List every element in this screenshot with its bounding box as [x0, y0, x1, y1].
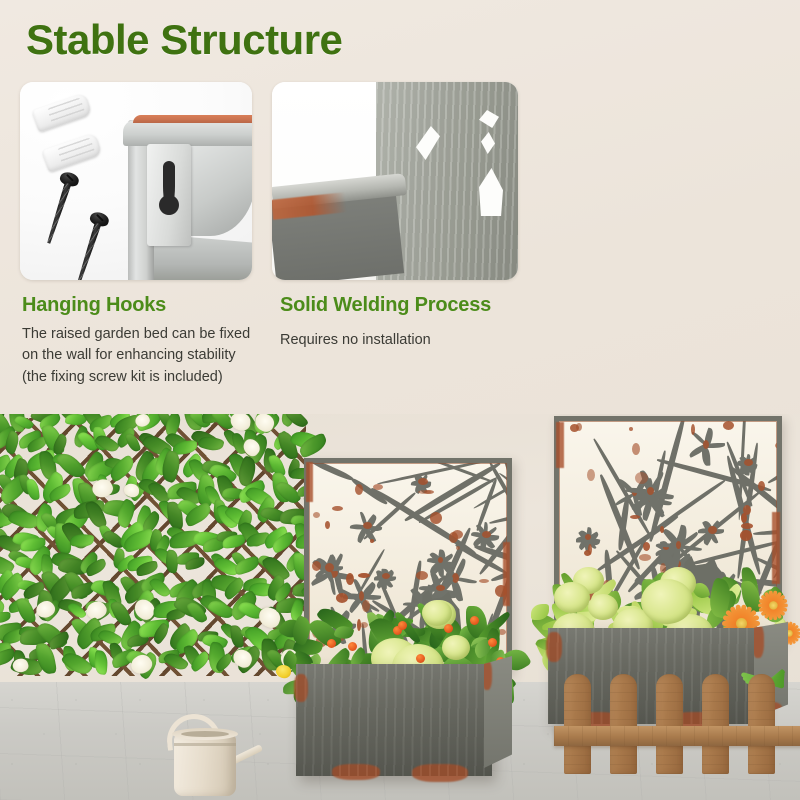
panel-cutout [481, 132, 495, 154]
panel-cutout [479, 168, 503, 216]
fence-picket [656, 674, 683, 774]
orange-berry [488, 638, 497, 647]
feature-body-solid-welding: Requires no installation [280, 330, 516, 351]
orange-berry [398, 621, 407, 630]
trellis-leaf [0, 612, 11, 624]
fence-picket [748, 674, 775, 774]
planter-lower-trough-side [484, 656, 512, 768]
watering-can [160, 712, 264, 796]
fence-picket [610, 674, 637, 774]
keyhole-slot-icon [163, 161, 175, 211]
hydrangea-bloom [588, 594, 618, 620]
planter-lower [296, 458, 534, 788]
trellis-leaf [70, 534, 95, 549]
orange-berry [444, 624, 453, 633]
trellis-leaf [197, 434, 224, 454]
orange-berry [327, 639, 336, 648]
hydrangea-bloom [554, 582, 590, 613]
hydrangea-bloom [641, 579, 693, 624]
gerbera-daisy [758, 590, 788, 620]
trellis-leaf [15, 596, 36, 625]
can-body [174, 734, 236, 796]
promo-canvas: Stable Structure Hanging [0, 0, 800, 800]
feature-title-solid-welding: Solid Welding Process [280, 294, 491, 317]
feature-image-hanging-hooks [20, 82, 252, 280]
keyhole-bracket [147, 144, 191, 246]
frame-top-edge [123, 120, 252, 146]
trellis-leaf [125, 431, 142, 453]
fence-rail [554, 726, 800, 746]
ivy-trellis [0, 418, 306, 676]
feature-title-hanging-hooks: Hanging Hooks [22, 294, 166, 317]
orange-berry [416, 654, 425, 663]
hydrangea-bloom [422, 600, 452, 626]
trellis-leaf [93, 650, 108, 675]
feature-body-hanging-hooks: The raised garden bed can be fixed on th… [22, 324, 258, 388]
panel-cutout [416, 126, 440, 160]
hydrangea-bloom [442, 635, 470, 660]
product-lifestyle-photo [0, 414, 800, 800]
picket-fence [558, 662, 800, 774]
orange-berry [470, 616, 479, 625]
rust-accent [503, 542, 510, 606]
fence-picket [564, 674, 591, 774]
planter-lower-trough [296, 664, 492, 776]
can-rim [172, 728, 238, 740]
trellis-leaves [0, 414, 314, 684]
feature-image-solid-welding [272, 82, 518, 280]
page-title: Stable Structure [26, 18, 342, 62]
orange-berry [348, 642, 357, 651]
trellis-leaf [26, 478, 40, 500]
panel-cutout [479, 110, 499, 128]
rust-accent [556, 422, 564, 468]
rust-accent [306, 462, 313, 502]
fence-picket [702, 674, 729, 774]
